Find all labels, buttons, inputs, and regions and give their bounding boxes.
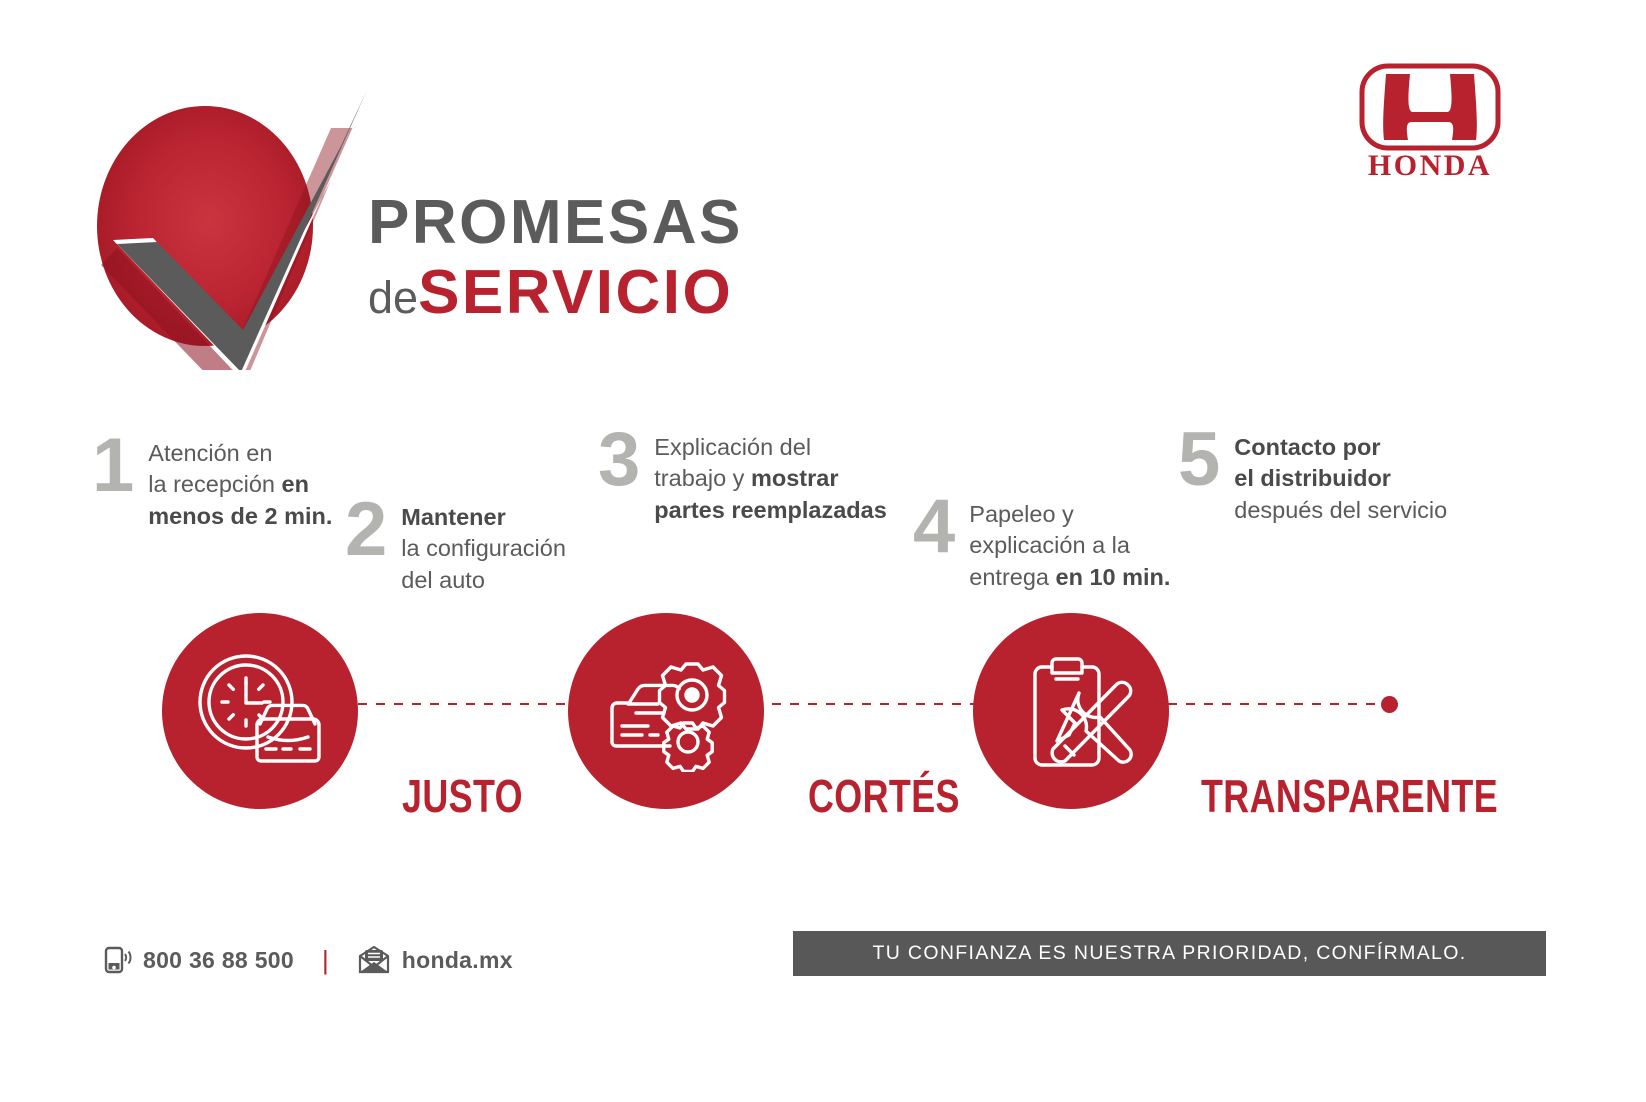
honda-logo: HONDA: [1356, 62, 1504, 182]
pillar-icon-circle-transparente: [973, 613, 1169, 809]
connector-dashes: [250, 703, 1390, 705]
promise-text: Atención enla recepción enmenos de 2 min…: [148, 434, 332, 532]
title-servicio: SERVICIO: [418, 258, 733, 327]
footer-separator: |: [322, 947, 329, 973]
promise-item-4: 4 Papeleo yexplicación a laentrega en 10…: [913, 495, 1170, 593]
promesas-checkmark-logo: [95, 80, 380, 370]
footer-contact-bar: 800 36 88 500 | honda.mx: [104, 940, 513, 980]
pillar-icon-circle-cortes: [568, 613, 764, 809]
promise-number: 2: [345, 498, 387, 562]
car-gears-icon: [600, 650, 732, 772]
infographic-page: PROMESAS deSERVICIO HONDA 1 Atención enl…: [0, 0, 1646, 1102]
promise-text: Mantenerla configuracióndel auto: [401, 498, 566, 596]
honda-h-emblem: [1362, 66, 1498, 148]
promise-item-1: 1 Atención enla recepción enmenos de 2 m…: [92, 434, 332, 532]
title-de: de: [368, 272, 418, 323]
promise-text: Papeleo yexplicación a laentrega en 10 m…: [969, 495, 1170, 593]
clipboard-tools-icon: [1008, 647, 1134, 775]
pillar-label-justo: JUSTO: [402, 773, 523, 819]
pillar-icon-circle-justo: [162, 613, 358, 809]
promise-item-2: 2 Mantenerla configuracióndel auto: [345, 498, 566, 596]
footer-tagline-banner: TU CONFIANZA ES NUESTRA PRIORIDAD, CONFÍ…: [793, 931, 1546, 976]
promise-item-5: 5 Contacto porel distribuidordespués del…: [1178, 428, 1447, 526]
title-subline: deSERVICIO: [368, 262, 743, 324]
honda-wordmark: HONDA: [1368, 149, 1492, 182]
promise-text: Explicación deltrabajo y mostrarpartes r…: [654, 428, 887, 526]
website-url: honda.mx: [402, 947, 513, 974]
dotted-connector-line: [250, 703, 1390, 706]
mobile-phone-icon: [104, 945, 132, 975]
connector-end-dot: [1381, 696, 1398, 713]
page-title: PROMESAS deSERVICIO: [368, 192, 743, 324]
footer-tagline-text: TU CONFIANZA ES NUESTRA PRIORIDAD, CONFÍ…: [872, 942, 1466, 965]
website-contact[interactable]: honda.mx: [357, 945, 513, 975]
clock-car-icon: [194, 652, 326, 770]
envelope-icon: [357, 945, 391, 975]
phone-number: 800 36 88 500: [143, 947, 294, 974]
promise-text: Contacto porel distribuidordespués del s…: [1234, 428, 1447, 526]
promise-number: 1: [92, 434, 134, 498]
pillar-label-cortes: CORTÉS: [808, 773, 960, 819]
promise-number: 3: [598, 428, 640, 492]
promise-number: 4: [913, 495, 955, 559]
phone-contact[interactable]: 800 36 88 500: [104, 945, 294, 975]
promise-item-3: 3 Explicación deltrabajo y mostrarpartes…: [598, 428, 887, 526]
title-promesas: PROMESAS: [368, 192, 743, 254]
promise-number: 5: [1178, 428, 1220, 492]
pillar-label-transparente: TRANSPARENTE: [1201, 773, 1498, 819]
